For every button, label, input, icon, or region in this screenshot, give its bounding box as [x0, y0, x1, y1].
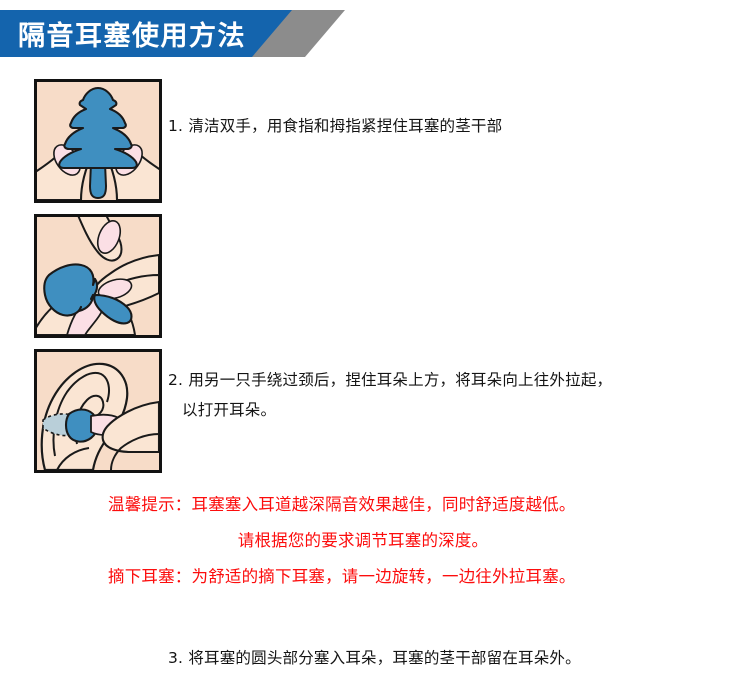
note-line-3: 摘下耳塞：为舒适的摘下耳塞，请一边旋转，一边往外拉耳塞。 — [0, 559, 750, 595]
step-3-line-1: 3. 将耳塞的圆头部分塞入耳朵，耳塞的茎干部留在耳朵外。 — [168, 649, 581, 667]
instruction-step: 3. 将耳塞的圆头部分塞入耳朵，耳塞的茎干部留在耳朵外。 — [0, 345, 750, 480]
instruction-step: 1. 清洁双手，用食指和拇指紧捏住耳塞的茎干部 — [0, 75, 750, 210]
note-line-2: 请根据您的要求调节耳塞的深度。 — [0, 523, 750, 559]
step-1-line-1: 1. 清洁双手，用食指和拇指紧捏住耳塞的茎干部 — [168, 117, 502, 135]
step-1-text: 1. 清洁双手，用食指和拇指紧捏住耳塞的茎干部 — [168, 111, 738, 141]
page-title: 隔音耳塞使用方法 — [18, 10, 318, 57]
instruction-steps: 1. 清洁双手，用食指和拇指紧捏住耳塞的茎干部 — [0, 75, 750, 480]
note-line-1: 温馨提示：耳塞塞入耳道越深隔音效果越佳，同时舒适度越低。 — [0, 487, 750, 523]
step-2-illustration — [34, 214, 162, 338]
step-3-illustration — [34, 349, 162, 473]
instruction-step: 2. 用另一只手绕过颈后，捏住耳朵上方，将耳朵向上往外拉起， 以打开耳朵。 — [0, 210, 750, 345]
step-1-illustration — [34, 79, 162, 203]
footer-notes: 温馨提示：耳塞塞入耳道越深隔音效果越佳，同时舒适度越低。 请根据您的要求调节耳塞… — [0, 487, 750, 595]
step-3-text: 3. 将耳塞的圆头部分塞入耳朵，耳塞的茎干部留在耳朵外。 — [168, 643, 738, 673]
